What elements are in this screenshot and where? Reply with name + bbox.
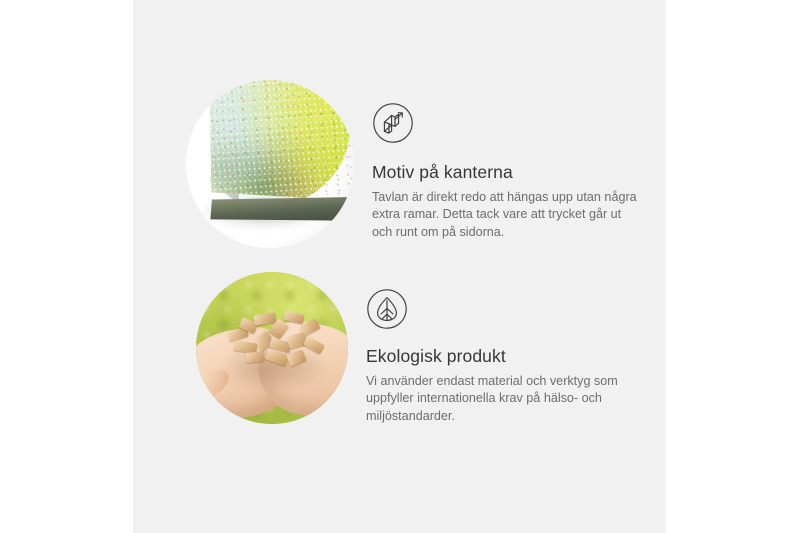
feature-1-text: Motiv på kanterna Tavlan är direkt redo … <box>354 80 640 241</box>
feature-2-body: Vi använder endast material och verktyg … <box>366 373 634 425</box>
wood-chip <box>283 311 304 324</box>
canvas-object <box>201 80 354 239</box>
feature-2-title: Ekologisk produkt <box>366 346 634 367</box>
canvas-corner-photo <box>186 80 354 248</box>
right-white-margin <box>666 0 800 533</box>
feature-1-title: Motiv på kanterna <box>372 162 640 183</box>
product-feature-graphic: Motiv på kanterna Tavlan är direkt redo … <box>0 0 800 533</box>
wood-chip <box>303 336 325 355</box>
left-white-margin <box>0 0 133 533</box>
wood-chip <box>286 349 306 366</box>
leaf-icon <box>366 288 634 335</box>
wood-chips-pile <box>226 312 326 368</box>
feature-1-body: Tavlan är direkt redo att hängas upp uta… <box>372 189 640 241</box>
feature-row-1: Motiv på kanterna Tavlan är direkt redo … <box>186 80 640 248</box>
canvas-paint-speckles <box>201 80 354 211</box>
canvas-wrapped-edge-icon <box>372 102 640 149</box>
wood-chip <box>246 351 265 363</box>
feature-row-2: Ekologisk produkt Vi använder endast mat… <box>196 272 634 425</box>
feature-2-text: Ekologisk produkt Vi använder endast mat… <box>348 272 634 425</box>
hands-holding-wood-chips-photo <box>196 272 348 424</box>
